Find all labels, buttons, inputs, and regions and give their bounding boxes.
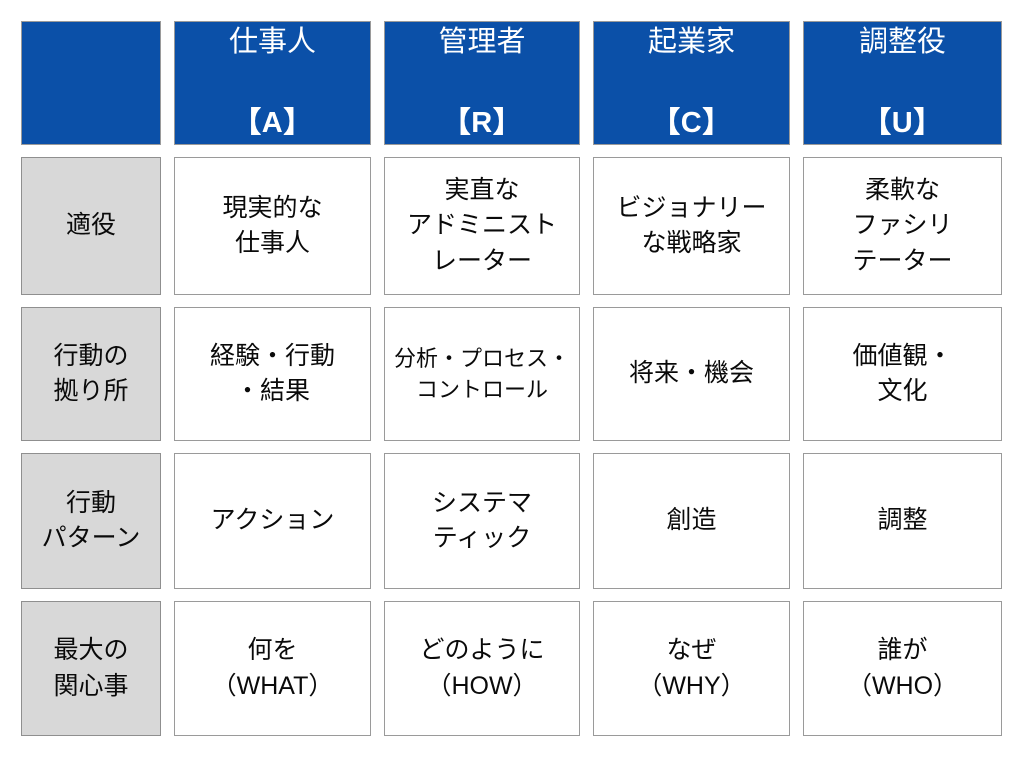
table-cell-primary-concern-c: なぜ （WHY） xyxy=(593,601,790,736)
column-header-u-title: 調整役 xyxy=(859,22,946,63)
table-cell-primary-concern-r: どのように （HOW） xyxy=(384,601,580,736)
column-header-c-code: 【C】 xyxy=(648,103,735,144)
table-cell-behavior-basis-a: 経験・行動 ・結果 xyxy=(174,307,371,441)
table-cell-behavior-pattern-r: システマ ティック xyxy=(384,453,580,589)
table-cell-primary-concern-a: 何を （WHAT） xyxy=(174,601,371,736)
matrix-corner-cell xyxy=(21,21,161,145)
column-header-r: 管理者 【R】 xyxy=(384,21,580,145)
row-header-behavior-basis: 行動の 拠り所 xyxy=(21,307,161,441)
column-header-u-code: 【U】 xyxy=(859,103,946,144)
table-cell-behavior-basis-u: 価値観・ 文化 xyxy=(803,307,1002,441)
comparison-matrix: 仕事人 【A】 管理者 【R】 起業家 【C】 調整役 【U】 適役 現実的な … xyxy=(21,21,1003,748)
column-header-r-title: 管理者 xyxy=(438,22,525,63)
table-cell-behavior-basis-r: 分析・プロセス・ コントロール xyxy=(384,307,580,441)
row-header-primary-concern: 最大の 関心事 xyxy=(21,601,161,736)
column-header-c: 起業家 【C】 xyxy=(593,21,790,145)
column-header-u: 調整役 【U】 xyxy=(803,21,1002,145)
table-cell-suitable-role-a: 現実的な 仕事人 xyxy=(174,157,371,295)
table-cell-suitable-role-c: ビジョナリー な戦略家 xyxy=(593,157,790,295)
column-header-a: 仕事人 【A】 xyxy=(174,21,371,145)
column-header-c-title: 起業家 xyxy=(648,22,735,63)
table-cell-behavior-basis-c: 将来・機会 xyxy=(593,307,790,441)
table-cell-suitable-role-u: 柔軟な ファシリ テーター xyxy=(803,157,1002,295)
table-cell-suitable-role-r: 実直な アドミニスト レーター xyxy=(384,157,580,295)
column-header-r-code: 【R】 xyxy=(438,103,525,144)
row-header-suitable-role: 適役 xyxy=(21,157,161,295)
column-header-a-code: 【A】 xyxy=(229,103,316,144)
table-cell-behavior-pattern-a: アクション xyxy=(174,453,371,589)
table-cell-behavior-pattern-c: 創造 xyxy=(593,453,790,589)
table-cell-behavior-pattern-u: 調整 xyxy=(803,453,1002,589)
row-header-behavior-pattern: 行動 パターン xyxy=(21,453,161,589)
table-cell-primary-concern-u: 誰が （WHO） xyxy=(803,601,1002,736)
column-header-a-title: 仕事人 xyxy=(229,22,316,63)
